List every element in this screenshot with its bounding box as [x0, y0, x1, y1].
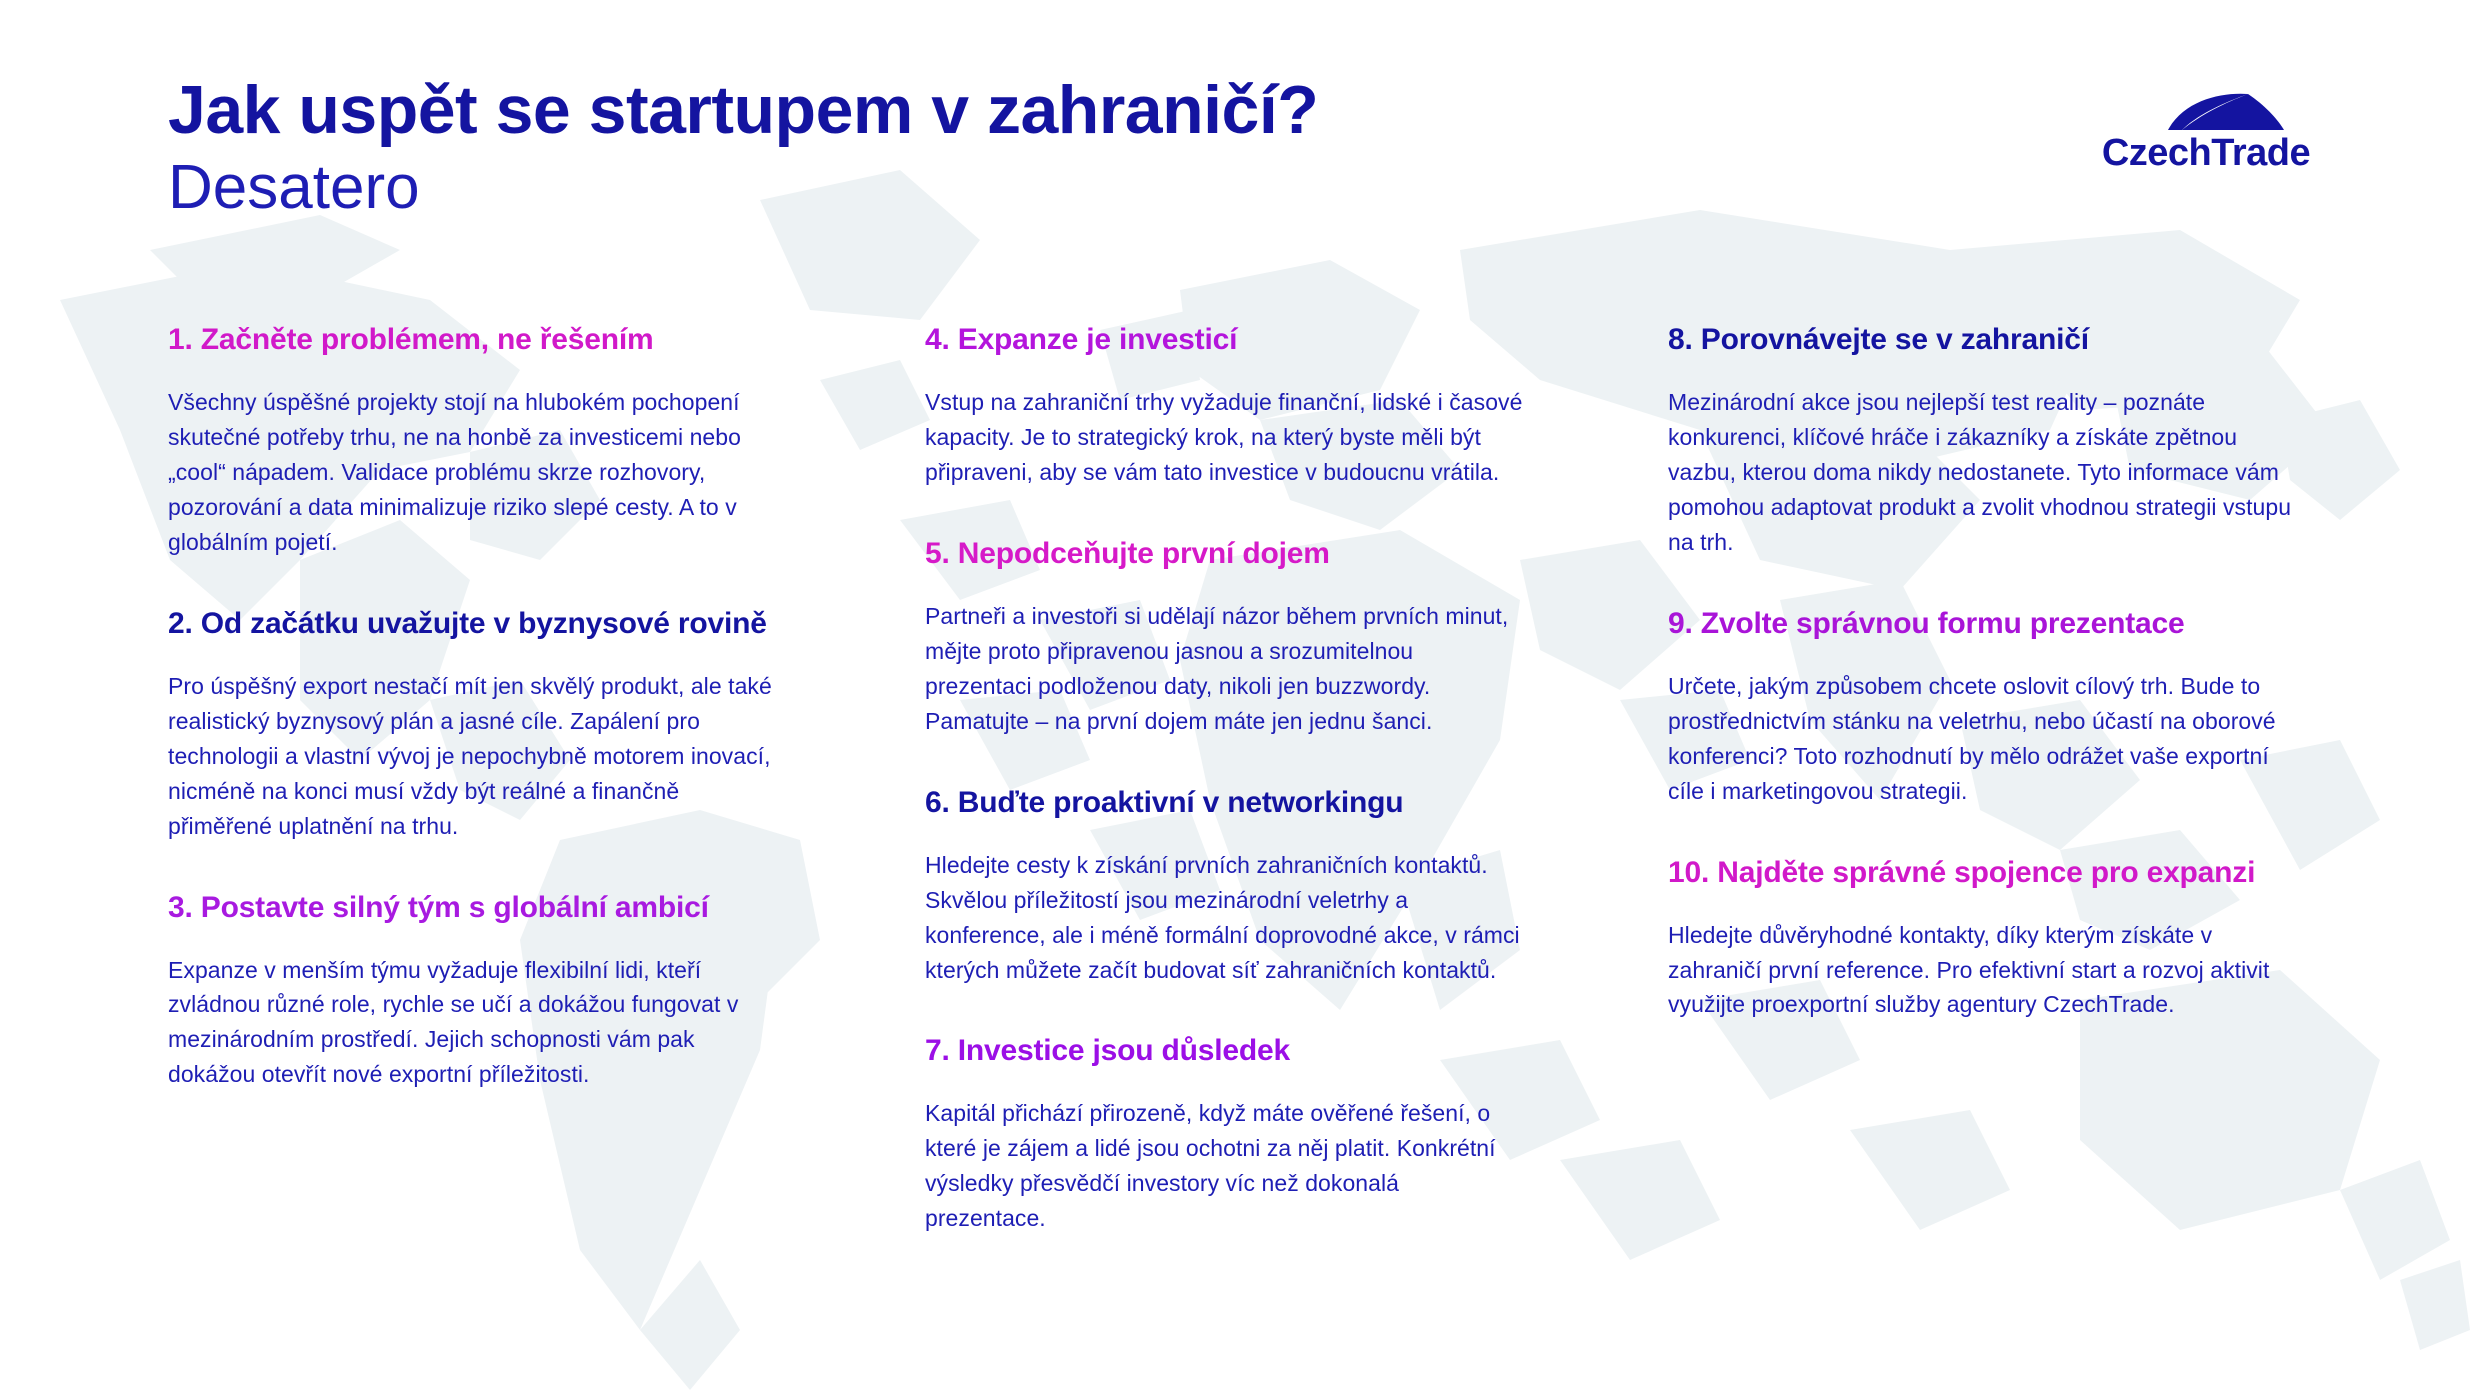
slide-root: Jak uspět se startupem v zahraničí? Desa… [0, 0, 2484, 1398]
tip-heading-3: 3. Postavte silný tým s globální ambicí [168, 888, 788, 927]
tip-item-6: 6. Buďte proaktivní v networkingu Hledej… [925, 783, 1525, 988]
tip-heading-5: 5. Nepodceňujte první dojem [925, 534, 1525, 573]
slide-header: Jak uspět se startupem v zahraničí? Desa… [0, 0, 2484, 300]
tip-heading-6: 6. Buďte proaktivní v networkingu [925, 783, 1525, 822]
title-block: Jak uspět se startupem v zahraničí? Desa… [168, 72, 1318, 223]
tip-heading-8: 8. Porovnávejte se v zahraničí [1668, 320, 2308, 359]
tip-body-6: Hledejte cesty k získání prvních zahrani… [925, 848, 1525, 988]
tip-item-1: 1. Začněte problémem, ne řešením Všechny… [168, 320, 788, 560]
tip-heading-9: 9. Zvolte správnou formu prezentace [1668, 604, 2308, 643]
tip-body-8: Mezinárodní akce jsou nejlepší test real… [1668, 385, 2308, 560]
tip-item-8: 8. Porovnávejte se v zahraničí Mezinárod… [1668, 320, 2308, 560]
tip-item-4: 4. Expanze je investicí Vstup na zahrani… [925, 320, 1525, 490]
tip-item-7: 7. Investice jsou důsledek Kapitál přich… [925, 1031, 1525, 1236]
tip-body-1: Všechny úspěšné projekty stojí na hlubok… [168, 385, 788, 560]
tip-item-2: 2. Od začátku uvažujte v byznysové rovin… [168, 604, 788, 844]
tip-item-5: 5. Nepodceňujte první dojem Partneři a i… [925, 534, 1525, 739]
czechtrade-wordmark: CzechTrade [2080, 134, 2332, 172]
tip-body-5: Partneři a investoři si udělají názor bě… [925, 599, 1525, 739]
tip-item-9: 9. Zvolte správnou formu prezentace Urče… [1668, 604, 2308, 809]
tip-heading-10: 10. Najděte správné spojence pro expanzi [1668, 853, 2308, 892]
tip-body-9: Určete, jakým způsobem chcete oslovit cí… [1668, 669, 2308, 809]
tip-body-4: Vstup na zahraniční trhy vyžaduje finanč… [925, 385, 1525, 490]
tip-body-10: Hledejte důvěryhodné kontakty, díky kter… [1668, 918, 2308, 1023]
tip-heading-7: 7. Investice jsou důsledek [925, 1031, 1525, 1070]
tips-column-2: 4. Expanze je investicí Vstup na zahrani… [925, 320, 1525, 1280]
tip-body-3: Expanze v menším týmu vyžaduje flexibiln… [168, 953, 788, 1093]
tips-column-1: 1. Začněte problémem, ne řešením Všechny… [168, 320, 788, 1136]
tip-heading-4: 4. Expanze je investicí [925, 320, 1525, 359]
tip-heading-2: 2. Od začátku uvažujte v byznysové rovin… [168, 604, 788, 643]
slide-content: Jak uspět se startupem v zahraničí? Desa… [0, 0, 2484, 1398]
tip-body-2: Pro úspěšný export nestačí mít jen skvěl… [168, 669, 788, 844]
czechtrade-logo: CzechTrade [2080, 92, 2332, 190]
tip-body-7: Kapitál přichází přirozeně, když máte ov… [925, 1096, 1525, 1236]
czechtrade-sail-swoosh-icon [2126, 92, 2286, 132]
tips-column-3: 8. Porovnávejte se v zahraničí Mezinárod… [1668, 320, 2308, 1066]
tip-item-3: 3. Postavte silný tým s globální ambicí … [168, 888, 788, 1093]
tip-heading-1: 1. Začněte problémem, ne řešením [168, 320, 788, 359]
page-subtitle: Desatero [168, 152, 1318, 223]
page-title: Jak uspět se startupem v zahraničí? [168, 72, 1318, 148]
tip-item-10: 10. Najděte správné spojence pro expanzi… [1668, 853, 2308, 1023]
